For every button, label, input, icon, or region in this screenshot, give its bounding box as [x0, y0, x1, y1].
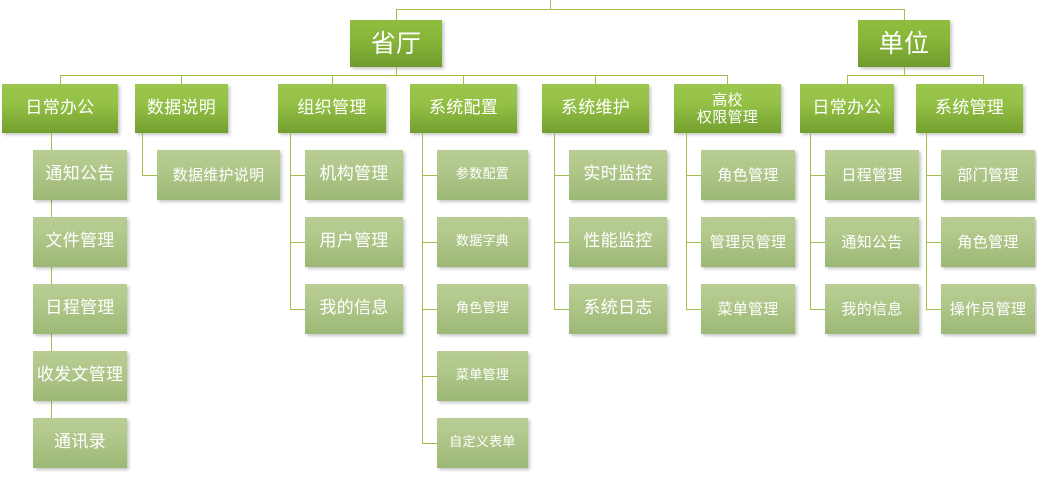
child-node-shuju-weihu-shuoming-label: 数据维护说明	[170, 167, 268, 184]
child-node-juese-guanli-3-label: 角色管理	[954, 234, 1021, 251]
child-node-richeng-guanli-1[interactable]: 日程管理	[33, 284, 127, 334]
child-node-tongzhi-gonggao-2[interactable]: 通知公告	[825, 217, 919, 267]
connector-col3-to-child3	[290, 309, 305, 310]
connector-col4-to-child2	[422, 242, 437, 243]
child-node-bumen-guanli[interactable]: 部门管理	[941, 150, 1035, 200]
header-node-zuzhi-guanli[interactable]: 组织管理	[278, 84, 386, 133]
child-node-guanliyuan-guanli[interactable]: 管理员管理	[701, 217, 795, 267]
child-node-caidan-guanli-1-label: 菜单管理	[453, 369, 512, 384]
header-node-xitong-peizhi[interactable]: 系统配置	[410, 84, 517, 133]
child-node-tongxunlu[interactable]: 通讯录	[33, 418, 127, 468]
child-node-canshu-peizhi-label: 参数配置	[453, 168, 512, 183]
child-node-xitong-rizhi[interactable]: 系统日志	[569, 284, 667, 334]
child-node-juese-guanli-2-label: 角色管理	[714, 167, 781, 184]
connector-danwei-drop	[904, 67, 905, 75]
header-node-shuju-shuoming[interactable]: 数据说明	[135, 84, 228, 133]
child-node-tongzhi-gonggao-1-label: 通知公告	[42, 165, 117, 184]
connector-col8-to-child2	[926, 242, 941, 243]
connector-root-to-shengting	[396, 9, 397, 20]
connector-col7-to-child3	[810, 309, 825, 310]
child-node-wenjian-guanli[interactable]: 文件管理	[33, 217, 127, 267]
connector-root-bar	[396, 9, 904, 10]
header-node-shuju-shuoming-label: 数据说明	[144, 99, 219, 118]
header-node-zuzhi-guanli-label: 组织管理	[294, 99, 369, 118]
header-node-xitong-guanli-label: 系统管理	[932, 99, 1007, 118]
connector-shengting-to-col1	[60, 75, 61, 84]
connector-col6-to-child3	[686, 309, 701, 310]
header-node-gaoxiao-quanxian-guanli-line2: 权限管理	[694, 109, 761, 126]
child-node-juese-guanli-1[interactable]: 角色管理	[437, 284, 528, 334]
connector-shengting-drop	[396, 67, 397, 75]
child-node-canshu-peizhi[interactable]: 参数配置	[437, 150, 528, 200]
child-node-shoufawen-guanli[interactable]: 收发文管理	[33, 351, 127, 401]
org-chart-diagram: 省厅 单位 日常办公 通知公告 文件管理 日程管理 收发文管理 通讯录 数据说明	[0, 0, 1037, 491]
connector-col4-to-child5	[422, 443, 437, 444]
connector-danwei-to-col7	[847, 75, 848, 84]
child-node-wode-xinxi-1[interactable]: 我的信息	[305, 284, 403, 334]
connector-root-stub	[550, 0, 551, 9]
connector-col3-spine	[290, 133, 291, 309]
child-node-shuju-zidian[interactable]: 数据字典	[437, 217, 528, 267]
child-node-jigou-guanli-label: 机构管理	[316, 165, 391, 184]
connector-col5-to-child1	[554, 175, 569, 176]
connector-col5-to-child3	[554, 309, 569, 310]
connector-shengting-bar	[60, 75, 727, 76]
header-node-richang-bangong-danwei-label: 日常办公	[809, 99, 884, 118]
child-node-tongzhi-gonggao-2-label: 通知公告	[838, 234, 905, 251]
child-node-wenjian-guanli-label: 文件管理	[42, 232, 117, 251]
child-node-wode-xinxi-1-label: 我的信息	[316, 299, 391, 318]
connector-col7-to-child1	[810, 175, 825, 176]
connector-shengting-to-col4	[463, 75, 464, 84]
child-node-richeng-guanli-1-label: 日程管理	[42, 299, 117, 318]
child-node-zidingyi-biaodan-label: 自定义表单	[446, 436, 519, 451]
child-node-xingneng-jiankong[interactable]: 性能监控	[569, 217, 667, 267]
connector-col8-to-child3	[926, 309, 941, 310]
root-node-shengting[interactable]: 省厅	[350, 20, 442, 67]
connector-danwei-to-col8	[983, 75, 984, 84]
connector-col4-to-child3	[422, 309, 437, 310]
child-node-richeng-guanli-2-label: 日程管理	[838, 167, 905, 184]
child-node-caidan-guanli-1[interactable]: 菜单管理	[437, 351, 528, 401]
child-node-juese-guanli-1-label: 角色管理	[453, 302, 512, 317]
child-node-richeng-guanli-2[interactable]: 日程管理	[825, 150, 919, 200]
connector-col4-to-child4	[422, 376, 437, 377]
connector-shengting-to-col3	[332, 75, 333, 84]
header-node-xitong-peizhi-label: 系统配置	[426, 99, 501, 118]
connector-danwei-bar	[847, 75, 983, 76]
connector-shengting-to-col2	[181, 75, 182, 84]
header-node-richang-bangong-sheng[interactable]: 日常办公	[2, 84, 118, 133]
root-node-danwei[interactable]: 单位	[858, 20, 950, 67]
connector-col2-to-child1	[142, 175, 157, 176]
child-node-wode-xinxi-2[interactable]: 我的信息	[825, 284, 919, 334]
child-node-yonghu-guanli[interactable]: 用户管理	[305, 217, 403, 267]
child-node-guanliyuan-guanli-label: 管理员管理	[707, 234, 790, 251]
child-node-zidingyi-biaodan[interactable]: 自定义表单	[437, 418, 528, 468]
connector-col5-spine	[554, 133, 555, 309]
connector-col7-spine	[810, 133, 811, 309]
child-node-shuju-weihu-shuoming[interactable]: 数据维护说明	[157, 150, 280, 200]
connector-shengting-to-col6	[727, 75, 728, 84]
child-node-caozuoyuan-guanli[interactable]: 操作员管理	[941, 284, 1035, 334]
connector-col8-to-child1	[926, 175, 941, 176]
connector-shengting-to-col5	[595, 75, 596, 84]
child-node-xingneng-jiankong-label: 性能监控	[580, 232, 655, 251]
connector-col8-spine	[926, 133, 927, 309]
connector-col2-spine	[142, 133, 143, 175]
connector-col6-spine	[686, 133, 687, 309]
connector-col6-to-child1	[686, 175, 701, 176]
child-node-bumen-guanli-label: 部门管理	[954, 167, 1021, 184]
connector-col6-to-child2	[686, 242, 701, 243]
child-node-caidan-guanli-2[interactable]: 菜单管理	[701, 284, 795, 334]
child-node-wode-xinxi-2-label: 我的信息	[838, 301, 905, 318]
connector-col5-to-child2	[554, 242, 569, 243]
child-node-juese-guanli-3[interactable]: 角色管理	[941, 217, 1035, 267]
child-node-shishi-jiankong-label: 实时监控	[580, 165, 655, 184]
child-node-tongzhi-gonggao-1[interactable]: 通知公告	[33, 150, 127, 200]
header-node-xitong-weihu[interactable]: 系统维护	[542, 84, 649, 133]
header-node-richang-bangong-danwei[interactable]: 日常办公	[800, 84, 894, 133]
connector-col4-to-child1	[422, 175, 437, 176]
header-node-gaoxiao-quanxian-guanli[interactable]: 高校 权限管理	[674, 84, 781, 133]
child-node-tongxunlu-label: 通讯录	[51, 433, 109, 452]
header-node-richang-bangong-sheng-label: 日常办公	[22, 99, 97, 118]
root-node-shengting-label: 省厅	[368, 30, 425, 58]
header-node-xitong-weihu-label: 系统维护	[558, 99, 633, 118]
connector-root-to-danwei	[904, 9, 905, 20]
connector-col4-spine	[422, 133, 423, 443]
child-node-caidan-guanli-2-label: 菜单管理	[714, 301, 781, 318]
root-node-danwei-label: 单位	[876, 30, 933, 58]
connector-col7-to-child2	[810, 242, 825, 243]
child-node-xitong-rizhi-label: 系统日志	[580, 299, 655, 318]
header-node-xitong-guanli[interactable]: 系统管理	[916, 84, 1023, 133]
child-node-juese-guanli-2[interactable]: 角色管理	[701, 150, 795, 200]
connector-col3-to-child1	[290, 175, 305, 176]
header-node-gaoxiao-quanxian-guanli-line1: 高校	[709, 92, 746, 109]
child-node-shoufawen-guanli-label: 收发文管理	[34, 366, 127, 385]
child-node-jigou-guanli[interactable]: 机构管理	[305, 150, 403, 200]
child-node-shuju-zidian-label: 数据字典	[453, 235, 512, 250]
child-node-shishi-jiankong[interactable]: 实时监控	[569, 150, 667, 200]
connector-col3-to-child2	[290, 242, 305, 243]
child-node-caozuoyuan-guanli-label: 操作员管理	[947, 301, 1030, 318]
child-node-yonghu-guanli-label: 用户管理	[316, 232, 391, 251]
